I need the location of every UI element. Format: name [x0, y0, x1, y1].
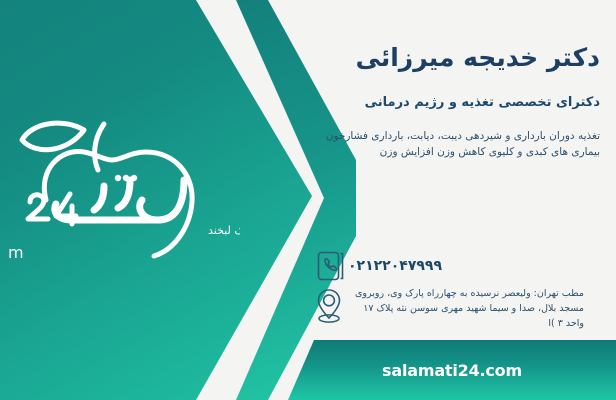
logo-tagline: به راحتی یک لبخند [208, 224, 240, 237]
doctor-specialty: دکترای تخصصی تغذیه و رژیم درمانی [316, 95, 600, 112]
phone-book-icon [314, 248, 348, 284]
phone-row: ۰۲۱۲۲۰۴۷۹۹۹ [314, 248, 604, 284]
brand-logo: به راحتی یک لبخند www.salamati24.com [8, 108, 240, 268]
footer-website[interactable]: salamati24.com [288, 340, 616, 400]
doctor-description: تغذیه دوران بارداری و شیردهی دیبت، دیابت… [324, 128, 600, 161]
footer-bar: salamati24.com [288, 340, 616, 400]
doctor-name: دکتر خدیجه میرزائی [316, 44, 600, 72]
business-card: به راحتی یک لبخند www.salamati24.com دکت… [0, 0, 616, 400]
clinic-address: مطب تهران: ولیعصر نرسیده به چهارراه پارک… [346, 286, 584, 332]
logo-website: www.salamati24.com [8, 243, 24, 262]
map-pin-icon [312, 286, 346, 322]
phone-number[interactable]: ۰۲۱۲۲۰۴۷۹۹۹ [348, 258, 442, 274]
address-row: مطب تهران: ولیعصر نرسیده به چهارراه پارک… [312, 286, 604, 332]
